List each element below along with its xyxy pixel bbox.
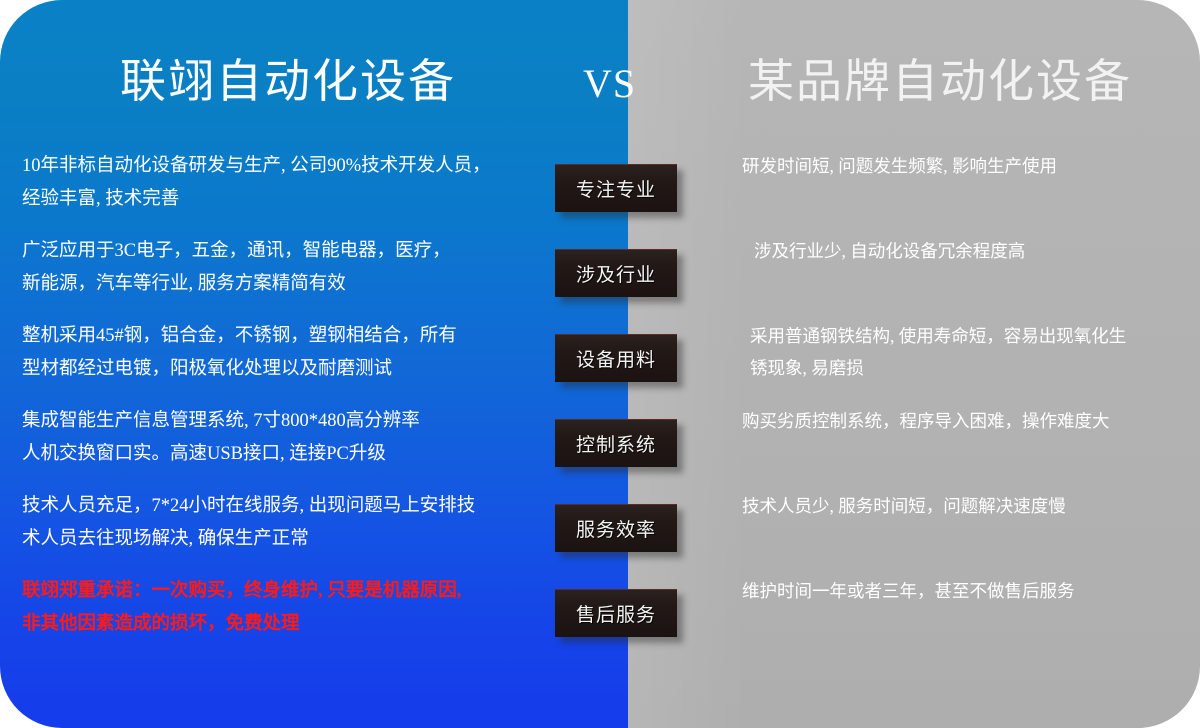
row-line: 新能源，汽车等行业, 服务方案精简有效 <box>22 268 532 301</box>
badge-label: 控制系统 <box>576 430 656 457</box>
list-item: 10年非标自动化设备研发与生产, 公司90%技术开发人员， 经验丰富, 技术完善 <box>22 150 532 235</box>
category-badge-focus[interactable]: 专注专业 <box>555 164 677 212</box>
row-line: 研发时间短, 问题发生频繁, 影响生产使用 <box>742 150 1182 182</box>
badge-label: 涉及行业 <box>576 260 656 287</box>
badge-label: 服务效率 <box>576 515 656 542</box>
category-badge-service-efficiency[interactable]: 服务效率 <box>555 504 677 552</box>
row-line: 锈现象, 易磨损 <box>750 352 1182 384</box>
list-item: 集成智能生产信息管理系统, 7寸800*480高分辨率 人机交换窗口实。高速US… <box>22 405 532 490</box>
badge-label: 设备用料 <box>576 345 656 372</box>
category-badge-after-sales[interactable]: 售后服务 <box>555 589 677 637</box>
list-item: 研发时间短, 问题发生频繁, 影响生产使用 <box>742 150 1182 235</box>
list-item: 技术人员充足，7*24小时在线服务, 出现问题马上安排技 术人员去往现场解决, … <box>22 490 532 575</box>
list-item: 广泛应用于3C电子，五金，通讯，智能电器，医疗， 新能源，汽车等行业, 服务方案… <box>22 235 532 320</box>
list-item: 采用普通钢铁结构, 使用寿命短，容易出现氧化生 锈现象, 易磨损 <box>742 320 1182 405</box>
row-line: 经验丰富, 技术完善 <box>22 183 532 216</box>
row-line: 人机交换窗口实。高速USB接口, 连接PC升级 <box>22 438 532 471</box>
list-item: 涉及行业少, 自动化设备冗余程度高 <box>742 235 1182 320</box>
row-line: 广泛应用于3C电子，五金，通讯，智能电器，医疗， <box>22 235 532 268</box>
row-line: 技术人员少, 服务时间短，问题解决速度慢 <box>742 490 1182 522</box>
row-line: 术人员去往现场解决, 确保生产正常 <box>22 523 532 556</box>
right-feature-list: 研发时间短, 问题发生频繁, 影响生产使用 涉及行业少, 自动化设备冗余程度高 … <box>742 150 1182 660</box>
list-item: 整机采用45#钢，铝合金，不锈钢，塑钢相结合，所有 型材都经过电镀，阳极氧化处理… <box>22 320 532 405</box>
page-title-right: 某品牌自动化设备 <box>748 50 1132 114</box>
row-line: 涉及行业少, 自动化设备冗余程度高 <box>754 235 1182 267</box>
category-badge-industries[interactable]: 涉及行业 <box>555 249 677 297</box>
comparison-infographic: 联翊自动化设备 VS 某品牌自动化设备 10年非标自动化设备研发与生产, 公司9… <box>0 0 1200 728</box>
list-item: 技术人员少, 服务时间短，问题解决速度慢 <box>742 490 1182 575</box>
row-line: 10年非标自动化设备研发与生产, 公司90%技术开发人员， <box>22 150 532 183</box>
row-line: 技术人员充足，7*24小时在线服务, 出现问题马上安排技 <box>22 490 532 523</box>
row-line: 维护时间一年或者三年，甚至不做售后服务 <box>742 575 1182 607</box>
row-line: 非其他因素造成的损坏，免费处理 <box>22 608 532 641</box>
row-line: 联翊郑重承诺：一次购买，终身维护, 只要是机器原因, <box>22 575 532 608</box>
badge-label: 专注专业 <box>576 175 656 202</box>
category-badge-materials[interactable]: 设备用料 <box>555 334 677 382</box>
list-item: 维护时间一年或者三年，甚至不做售后服务 <box>742 575 1182 660</box>
category-badge-control-system[interactable]: 控制系统 <box>555 419 677 467</box>
row-line: 集成智能生产信息管理系统, 7寸800*480高分辨率 <box>22 405 532 438</box>
list-item-pledge: 联翊郑重承诺：一次购买，终身维护, 只要是机器原因, 非其他因素造成的损坏，免费… <box>22 575 532 660</box>
vs-label: VS <box>583 60 636 108</box>
row-line: 整机采用45#钢，铝合金，不锈钢，塑钢相结合，所有 <box>22 320 532 353</box>
left-feature-list: 10年非标自动化设备研发与生产, 公司90%技术开发人员， 经验丰富, 技术完善… <box>22 150 532 660</box>
list-item: 购买劣质控制系统，程序导入困难，操作难度大 <box>742 405 1182 490</box>
row-line: 购买劣质控制系统，程序导入困难，操作难度大 <box>742 405 1182 437</box>
page-title-left: 联翊自动化设备 <box>120 50 456 114</box>
row-line: 型材都经过电镀，阳极氧化处理以及耐磨测试 <box>22 353 532 386</box>
row-line: 采用普通钢铁结构, 使用寿命短，容易出现氧化生 <box>750 320 1182 352</box>
badge-label: 售后服务 <box>576 600 656 627</box>
